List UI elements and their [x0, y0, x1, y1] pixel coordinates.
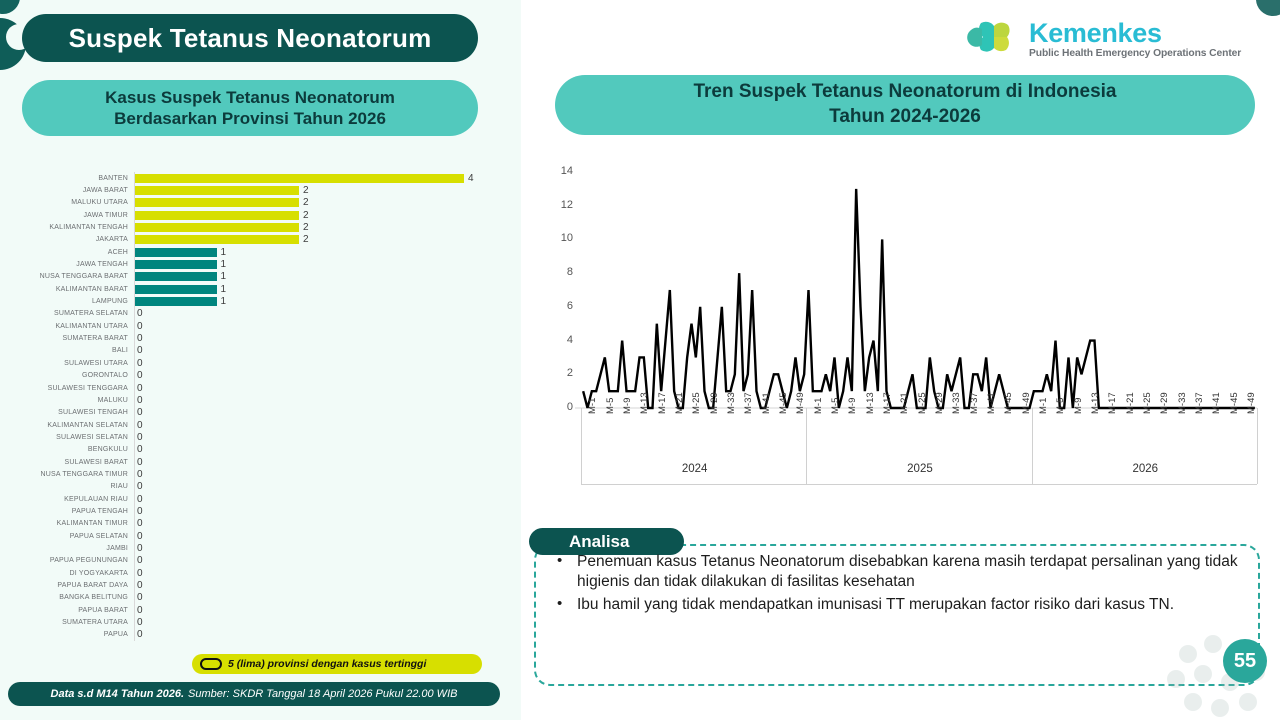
bar-axis-line [134, 357, 135, 369]
page-title: Suspek Tetanus Neonatorum [22, 14, 478, 62]
x-axis-tick-label: M-37 [1194, 392, 1205, 414]
right-panel: Kemenkes Public Health Emergency Operati… [521, 0, 1280, 720]
bar-category-label: ACEH [0, 249, 134, 256]
bar-category-label: SUMATERA BARAT [0, 335, 134, 342]
bar-fill [134, 174, 464, 183]
y-axis-tick-label: 14 [547, 165, 573, 177]
bar-category-label: NUSA TENGGARA TIMUR [0, 471, 134, 478]
bar-row: BANTEN4 [0, 172, 500, 184]
bar-value-label: 0 [137, 580, 143, 591]
bar-category-label: JAMBI [0, 545, 134, 552]
bar-value-label: 0 [137, 543, 143, 554]
x-axis-tick-label: M-29 [934, 392, 945, 414]
bar-axis-line [134, 419, 135, 431]
x-axis-tick-label: M-21 [899, 392, 910, 414]
x-axis-tick-label: M-1 [1038, 398, 1049, 414]
bar-row: BENGKULU0 [0, 444, 500, 456]
bar-row: PAPUA TENGAH0 [0, 505, 500, 517]
x-axis-tick-label: M-1 [813, 398, 824, 414]
x-axis-year-label: 2025 [907, 463, 933, 475]
bar-row: SULAWESI BARAT0 [0, 456, 500, 468]
bar-row: JAWA TIMUR2 [0, 209, 500, 221]
bar-axis-line [134, 579, 135, 591]
bar-axis-line [134, 481, 135, 493]
x-axis-tick-label: M-17 [1107, 392, 1118, 414]
y-axis-tick-label: 2 [547, 367, 573, 379]
page-number-badge: 55 [1223, 639, 1267, 683]
bar-category-label: JAKARTA [0, 236, 134, 243]
bar-row: KALIMANTAN TENGAH2 [0, 221, 500, 233]
bar-row: SUMATERA SELATAN0 [0, 308, 500, 320]
bar-category-label: BALI [0, 347, 134, 354]
bar-fill [134, 198, 299, 207]
bar-category-label: PAPUA BARAT DAYA [0, 582, 134, 589]
x-axis-tick-label: M-13 [1090, 392, 1101, 414]
bar-value-label: 1 [221, 284, 227, 295]
bar-value-label: 2 [303, 222, 309, 233]
bar-category-label: BANTEN [0, 175, 134, 182]
bar-category-label: KEPULAUAN RIAU [0, 496, 134, 503]
bar-row: GORONTALO0 [0, 370, 500, 382]
bar-value-label: 0 [137, 531, 143, 542]
x-axis-tick-label: M-25 [917, 392, 928, 414]
bar-category-label: MALUKU [0, 397, 134, 404]
bar-category-label: KALIMANTAN TIMUR [0, 520, 134, 527]
bar-row: JAMBI0 [0, 542, 500, 554]
x-axis-tick-label: M-21 [674, 392, 685, 414]
bar-row: JAWA BARAT2 [0, 184, 500, 196]
bar-fill [134, 272, 217, 281]
bar-value-label: 0 [137, 555, 143, 566]
x-axis-tick-label: M-25 [691, 392, 702, 414]
x-axis-tick-label: M-17 [882, 392, 893, 414]
weekly-trend-line-chart: 02468101214M-1M-5M-9M-13M-17M-21M-25M-29… [533, 160, 1273, 520]
bar-axis-line [134, 370, 135, 382]
bar-axis-line [134, 629, 135, 641]
bar-row: SULAWESI TENGGARA0 [0, 382, 500, 394]
bar-row: KALIMANTAN UTARA0 [0, 320, 500, 332]
bar-row: RIAU0 [0, 481, 500, 493]
bar-row: PAPUA PEGUNUNGAN0 [0, 555, 500, 567]
bar-axis-line [134, 542, 135, 554]
x-axis-year-label: 2024 [682, 463, 708, 475]
source-reference: Sumber: SKDR Tanggal 18 April 2026 Pukul… [188, 688, 457, 700]
x-axis-tick-label: M-29 [1159, 392, 1170, 414]
x-axis-tick-label: M-13 [639, 392, 650, 414]
bar-row: SULAWESI SELATAN0 [0, 431, 500, 443]
analysis-item: Ibu hamil yang tidak mendapatkan imunisa… [547, 595, 1247, 615]
bar-axis-line [134, 234, 135, 246]
bar-value-label: 0 [137, 457, 143, 468]
bar-row: LAMPUNG1 [0, 295, 500, 307]
bar-axis-line [134, 332, 135, 344]
bar-axis-line [134, 295, 135, 307]
bar-category-label: SULAWESI TENGAH [0, 409, 134, 416]
rounded-rect-outline-icon [200, 658, 222, 670]
x-axis-tick-label: M-1 [587, 398, 598, 414]
bar-fill [134, 223, 299, 232]
bar-row: NUSA TENGGARA TIMUR0 [0, 468, 500, 480]
bar-category-label: JAWA BARAT [0, 187, 134, 194]
bar-category-label: MALUKU UTARA [0, 199, 134, 206]
bar-row: SUMATERA UTARA0 [0, 616, 500, 628]
y-axis-tick-label: 0 [547, 401, 573, 413]
bar-category-label: SULAWESI TENGGARA [0, 385, 134, 392]
x-axis-tick-label: M-25 [1142, 392, 1153, 414]
trend-line-path [583, 189, 1255, 408]
x-axis-tick-label: M-45 [1229, 392, 1240, 414]
bar-axis-line [134, 308, 135, 320]
y-axis-tick-label: 10 [547, 232, 573, 244]
bar-value-label: 0 [137, 629, 143, 640]
bar-category-label: SULAWESI BARAT [0, 459, 134, 466]
x-axis-tick-label: M-33 [1177, 392, 1188, 414]
bar-row: KEPULAUAN RIAU0 [0, 493, 500, 505]
bar-category-label: RIAU [0, 483, 134, 490]
bar-category-label: SUMATERA SELATAN [0, 310, 134, 317]
bar-axis-line [134, 518, 135, 530]
bar-fill [134, 235, 299, 244]
bar-value-label: 1 [221, 296, 227, 307]
x-axis-tick-label: M-49 [795, 392, 806, 414]
x-axis-tick-label: M-9 [1073, 398, 1084, 414]
bar-row: PAPUA SELATAN0 [0, 530, 500, 542]
x-axis-tick-label: M-41 [1211, 392, 1222, 414]
bar-row: NUSA TENGGARA BARAT1 [0, 271, 500, 283]
x-axis-tick-label: M-29 [709, 392, 720, 414]
bar-value-label: 0 [137, 592, 143, 603]
bar-axis-line [134, 283, 135, 295]
bar-axis-line [134, 209, 135, 221]
bar-value-label: 0 [137, 432, 143, 443]
bar-row: SULAWESI UTARA0 [0, 357, 500, 369]
logo-brand-text: Kemenkes [1029, 19, 1241, 47]
bar-value-label: 0 [137, 345, 143, 356]
bar-axis-line [134, 246, 135, 258]
bar-chart-title-line1: Kasus Suspek Tetanus Neonatorum [105, 87, 395, 108]
bar-row: ACEH1 [0, 246, 500, 258]
bar-row: MALUKU UTARA2 [0, 197, 500, 209]
bar-axis-line [134, 271, 135, 283]
bar-value-label: 0 [137, 370, 143, 381]
bar-category-label: SUMATERA UTARA [0, 619, 134, 626]
x-axis-tick-label: M-33 [951, 392, 962, 414]
y-axis-tick-label: 8 [547, 266, 573, 278]
bar-chart-legend: 5 (lima) provinsi dengan kasus tertinggi [192, 654, 482, 674]
bar-value-label: 0 [137, 395, 143, 406]
x-axis-year-separator [581, 408, 582, 484]
x-axis-year-separator [1257, 408, 1258, 484]
bar-axis-line [134, 221, 135, 233]
bar-row: BANGKA BELITUNG0 [0, 592, 500, 604]
bar-row: PAPUA BARAT DAYA0 [0, 579, 500, 591]
bar-row: JAWA TENGAH1 [0, 258, 500, 270]
bar-row: KALIMANTAN BARAT1 [0, 283, 500, 295]
bar-category-label: LAMPUNG [0, 298, 134, 305]
bar-category-label: KALIMANTAN SELATAN [0, 422, 134, 429]
logo-subtitle-text: Public Health Emergency Operations Cente… [1029, 48, 1241, 59]
bar-category-label: BENGKULU [0, 446, 134, 453]
bar-category-label: PAPUA PEGUNUNGAN [0, 557, 134, 564]
y-axis-tick-label: 4 [547, 334, 573, 346]
x-axis-group-rule [581, 484, 1257, 485]
bar-category-label: PAPUA [0, 631, 134, 638]
bar-row: PAPUA BARAT0 [0, 604, 500, 616]
bar-category-label: NUSA TENGGARA BARAT [0, 273, 134, 280]
bar-axis-line [134, 382, 135, 394]
bar-fill [134, 186, 299, 195]
analysis-item: Penemuan kasus Tetanus Neonatorum diseba… [547, 552, 1247, 593]
x-axis-tick-label: M-9 [847, 398, 858, 414]
bar-value-label: 2 [303, 210, 309, 221]
bar-value-label: 1 [221, 259, 227, 270]
bar-category-label: GORONTALO [0, 372, 134, 379]
kemenkes-logo: Kemenkes Public Health Emergency Operati… [965, 8, 1265, 70]
corner-decoration-circle [0, 0, 20, 14]
x-axis-tick-label: M-37 [743, 392, 754, 414]
bar-row: SUMATERA BARAT0 [0, 332, 500, 344]
bar-value-label: 0 [137, 407, 143, 418]
bar-axis-line [134, 592, 135, 604]
line-chart-title-line1: Tren Suspek Tetanus Neonatorum di Indone… [693, 80, 1116, 105]
bar-value-label: 0 [137, 617, 143, 628]
bar-row: KALIMANTAN TIMUR0 [0, 518, 500, 530]
bar-value-label: 4 [468, 173, 474, 184]
bar-axis-line [134, 197, 135, 209]
bar-value-label: 0 [137, 494, 143, 505]
bar-axis-line [134, 172, 135, 184]
bar-axis-line [134, 444, 135, 456]
bar-value-label: 2 [303, 197, 309, 208]
bar-axis-line [134, 555, 135, 567]
bar-category-label: JAWA TENGAH [0, 261, 134, 268]
line-chart-svg [533, 160, 1273, 520]
bar-value-label: 1 [221, 247, 227, 258]
bar-axis-line [134, 184, 135, 196]
x-axis-year-label: 2026 [1133, 463, 1159, 475]
bar-axis-line [134, 394, 135, 406]
bar-axis-line [134, 493, 135, 505]
bar-category-label: JAWA TIMUR [0, 212, 134, 219]
bar-axis-line [134, 616, 135, 628]
source-footer: Data s.d M14 Tahun 2026. Sumber: SKDR Ta… [8, 682, 500, 706]
bar-value-label: 0 [137, 481, 143, 492]
bar-row: DI YOGYAKARTA0 [0, 567, 500, 579]
bar-row: BALI0 [0, 345, 500, 357]
line-chart-title: Tren Suspek Tetanus Neonatorum di Indone… [555, 75, 1255, 135]
bar-axis-line [134, 320, 135, 332]
bar-category-label: SULAWESI UTARA [0, 360, 134, 367]
x-axis-tick-label: M-9 [622, 398, 633, 414]
bar-category-label: PAPUA SELATAN [0, 533, 134, 540]
source-data-period: Data s.d M14 Tahun 2026. [51, 688, 184, 700]
bar-category-label: DI YOGYAKARTA [0, 570, 134, 577]
bar-value-label: 0 [137, 333, 143, 344]
bar-category-label: PAPUA BARAT [0, 607, 134, 614]
bar-category-label: KALIMANTAN UTARA [0, 323, 134, 330]
bar-value-label: 0 [137, 308, 143, 319]
bar-axis-line [134, 567, 135, 579]
y-axis-tick-label: 12 [547, 199, 573, 211]
bar-fill [134, 260, 217, 269]
analysis-tag: Analisa [529, 528, 684, 555]
line-chart-title-line2: Tahun 2024-2026 [829, 105, 981, 130]
bar-fill [134, 211, 299, 220]
bar-value-label: 0 [137, 444, 143, 455]
bar-value-label: 0 [137, 321, 143, 332]
legend-label: 5 (lima) provinsi dengan kasus tertinggi [228, 658, 426, 670]
bar-value-label: 0 [137, 506, 143, 517]
x-axis-tick-label: M-17 [657, 392, 668, 414]
bar-value-label: 0 [137, 420, 143, 431]
bar-axis-line [134, 407, 135, 419]
bar-axis-line [134, 604, 135, 616]
bar-row: JAKARTA2 [0, 234, 500, 246]
bar-category-label: KALIMANTAN BARAT [0, 286, 134, 293]
bar-value-label: 0 [137, 568, 143, 579]
x-axis-tick-label: M-37 [969, 392, 980, 414]
bar-value-label: 0 [137, 518, 143, 529]
bar-category-label: PAPUA TENGAH [0, 508, 134, 515]
x-axis-tick-label: M-45 [778, 392, 789, 414]
bar-chart-title-line2: Berdasarkan Provinsi Tahun 2026 [114, 108, 386, 129]
x-axis-tick-label: M-5 [1055, 398, 1066, 414]
bar-axis-line [134, 468, 135, 480]
bar-value-label: 2 [303, 234, 309, 245]
kemenkes-flower-icon [965, 13, 1021, 65]
x-axis-tick-label: M-41 [986, 392, 997, 414]
x-axis-tick-label: M-33 [726, 392, 737, 414]
analysis-list: Penemuan kasus Tetanus Neonatorum diseba… [547, 552, 1247, 617]
bar-axis-line [134, 345, 135, 357]
bar-value-label: 0 [137, 605, 143, 616]
bar-row: SULAWESI TENGAH0 [0, 407, 500, 419]
bar-row: MALUKU0 [0, 394, 500, 406]
bar-category-label: BANGKA BELITUNG [0, 594, 134, 601]
x-axis-tick-label: M-5 [830, 398, 841, 414]
bar-fill [134, 285, 217, 294]
bar-axis-line [134, 505, 135, 517]
bar-category-label: KALIMANTAN TENGAH [0, 224, 134, 231]
bar-value-label: 0 [137, 358, 143, 369]
x-axis-year-separator [806, 408, 807, 484]
province-bar-chart: BANTEN4JAWA BARAT2MALUKU UTARA2JAWA TIMU… [0, 172, 500, 662]
bar-axis-line [134, 258, 135, 270]
bar-fill [134, 297, 217, 306]
y-axis-tick-label: 6 [547, 300, 573, 312]
bar-row: KALIMANTAN SELATAN0 [0, 419, 500, 431]
left-panel: Suspek Tetanus Neonatorum Kasus Suspek T… [0, 0, 521, 720]
bar-row: PAPUA0 [0, 629, 500, 641]
x-axis-tick-label: M-45 [1003, 392, 1014, 414]
x-axis-tick-label: M-21 [1125, 392, 1136, 414]
bar-value-label: 2 [303, 185, 309, 196]
x-axis-year-separator [1032, 408, 1033, 484]
bar-value-label: 0 [137, 383, 143, 394]
x-axis-tick-label: M-5 [605, 398, 616, 414]
bar-value-label: 1 [221, 271, 227, 282]
bar-fill [134, 248, 217, 257]
bar-axis-line [134, 456, 135, 468]
bar-value-label: 0 [137, 469, 143, 480]
x-axis-tick-label: M-49 [1021, 392, 1032, 414]
bar-axis-line [134, 431, 135, 443]
x-axis-tick-label: M-13 [865, 392, 876, 414]
x-axis-tick-label: M-41 [761, 392, 772, 414]
bar-chart-title: Kasus Suspek Tetanus Neonatorum Berdasar… [22, 80, 478, 136]
bar-category-label: SULAWESI SELATAN [0, 434, 134, 441]
x-axis-tick-label: M-49 [1246, 392, 1257, 414]
bar-axis-line [134, 530, 135, 542]
